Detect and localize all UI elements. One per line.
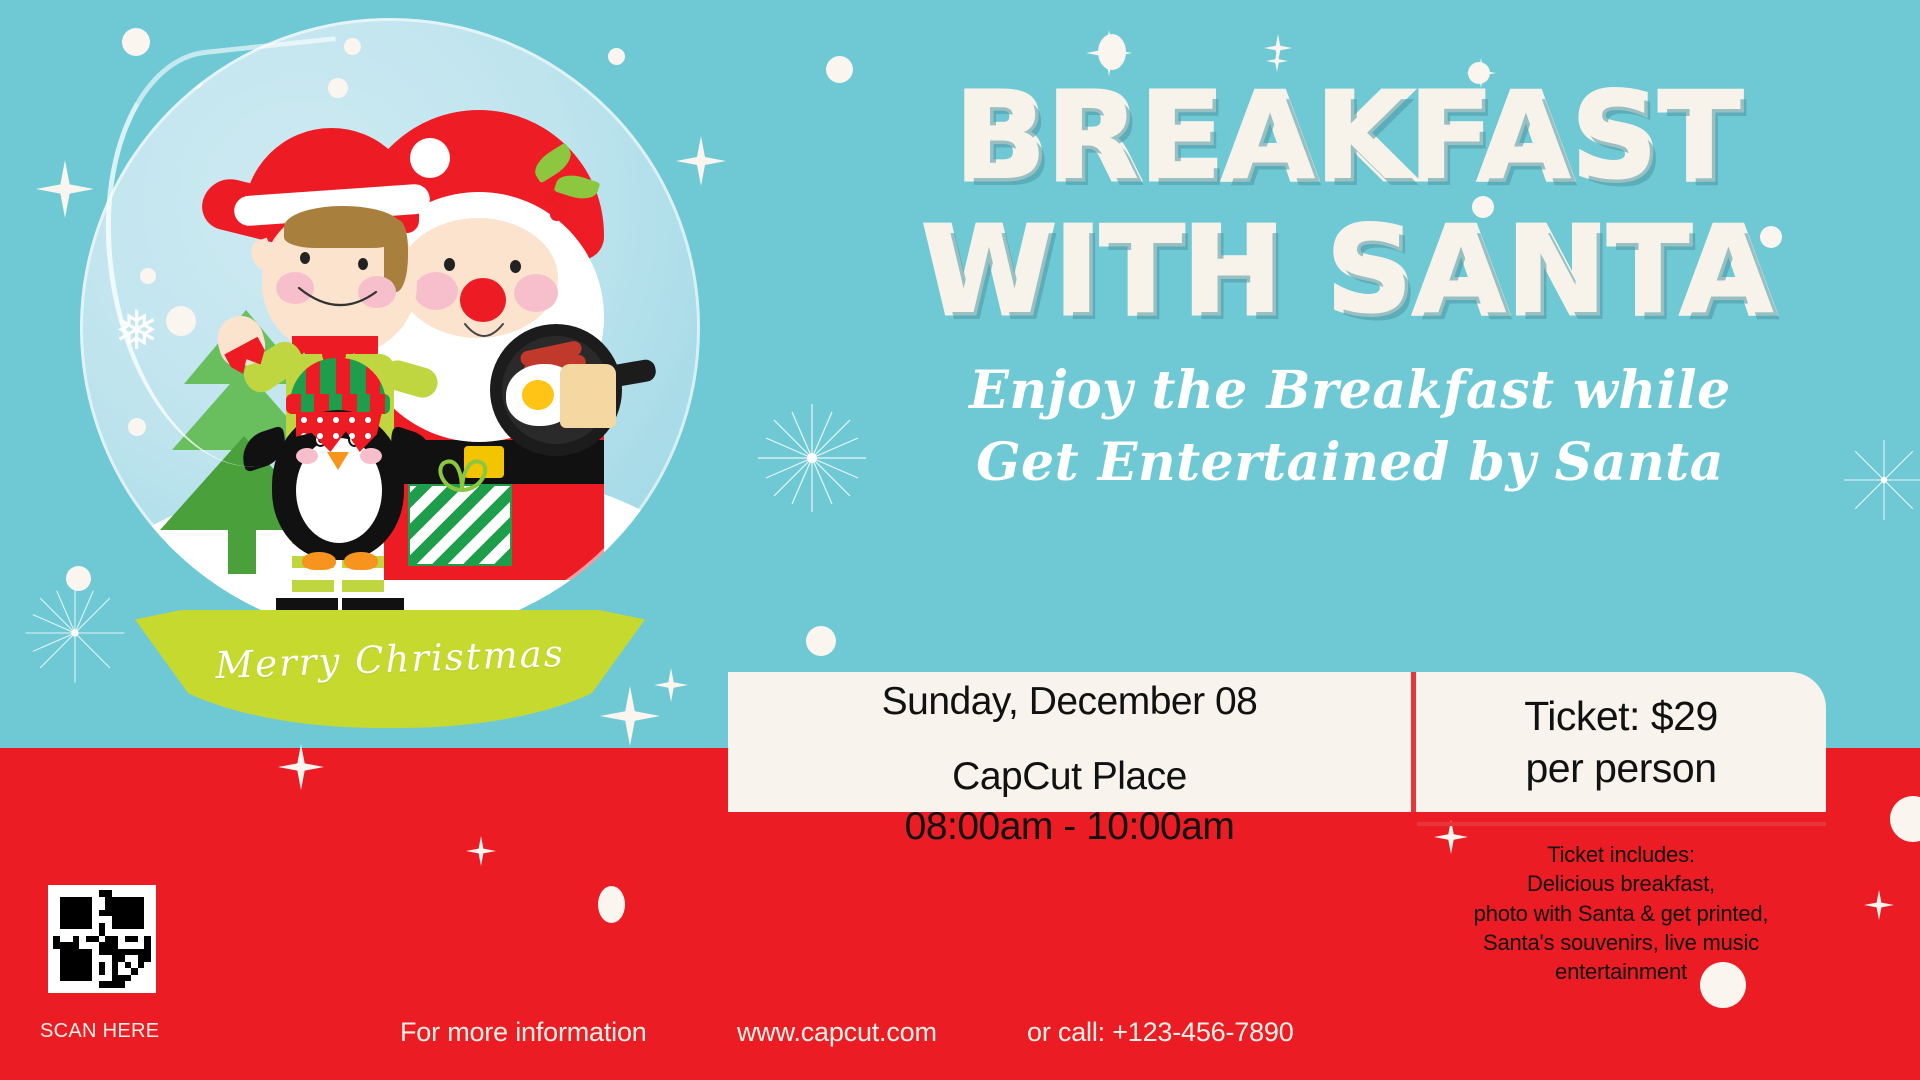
includes-line-1: Delicious breakfast, <box>1416 869 1826 898</box>
subtitle-line-2: Get Entertained by Santa <box>820 427 1880 499</box>
ticket-price-line-1: Ticket: $29 <box>1416 690 1826 742</box>
merry-christmas-text: Merry Christmas <box>134 629 645 690</box>
title-line-2: WITH SANTA <box>840 212 1860 330</box>
includes-line-4: entertainment <box>1416 957 1826 986</box>
subtitle-line-1: Enjoy the Breakfast while <box>820 355 1880 427</box>
ticket-includes: Ticket includes: Delicious breakfast, ph… <box>1416 840 1826 986</box>
poster-subtitle: Enjoy the Breakfast while Get Entertaine… <box>820 355 1880 499</box>
globe-base: Merry Christmas <box>135 610 645 728</box>
website-link[interactable]: www.capcut.com <box>737 1017 937 1048</box>
qr-code-pattern <box>53 890 151 988</box>
event-venue-time: CapCut Place 08:00am - 10:00am <box>728 752 1411 852</box>
includes-line-2: photo with Santa & get printed, <box>1416 899 1826 928</box>
venue-name: CapCut Place <box>728 752 1411 802</box>
phone-number[interactable]: or call: +123-456-7890 <box>1027 1017 1294 1048</box>
more-info-label: For more information <box>400 1017 647 1048</box>
title-line-1: BREAKFAST <box>840 78 1860 196</box>
ticket-price: Ticket: $29 per person <box>1416 690 1826 795</box>
poster-canvas: ❅ ❅ ❅ <box>0 0 1920 1080</box>
qr-code[interactable] <box>48 885 156 993</box>
event-time: 08:00am - 10:00am <box>728 802 1411 852</box>
scan-here-label: SCAN HERE <box>40 1020 190 1043</box>
includes-line-3: Santa's souvenirs, live music <box>1416 928 1826 957</box>
snow-globe-illustration: ❅ <box>70 18 710 718</box>
includes-title: Ticket includes: <box>1416 840 1826 869</box>
poster-title: BREAKFAST WITH SANTA <box>840 78 1860 330</box>
panel-horizontal-divider <box>1417 822 1826 826</box>
ticket-price-line-2: per person <box>1416 742 1826 794</box>
event-date: Sunday, December 08 <box>728 680 1411 724</box>
